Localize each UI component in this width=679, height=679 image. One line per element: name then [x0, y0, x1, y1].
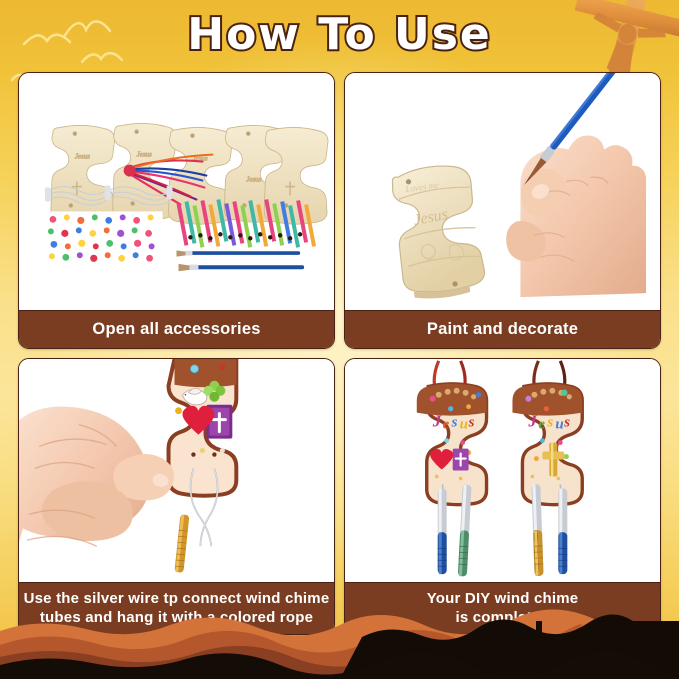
svg-text:e: e [538, 417, 545, 433]
svg-text:Jesus: Jesus [75, 153, 90, 161]
step-1-photo: Jesus Jesus Jesus [19, 73, 334, 310]
svg-text:Jesus: Jesus [137, 151, 152, 159]
step-card-3: Use the silver wire tp connect wind chim… [18, 358, 335, 635]
step-2-caption: Paint and decorate [345, 310, 660, 348]
step-card-1: Jesus Jesus Jesus [18, 72, 335, 349]
svg-text:s: s [563, 415, 570, 431]
step-2-caption-line-1: Paint and decorate [427, 320, 578, 338]
svg-text:J: J [432, 412, 442, 431]
poster-title-text: How To Use [187, 6, 492, 64]
step-1-caption: Open all accessories [19, 310, 334, 348]
step-4-photo: J e s u s [345, 359, 660, 582]
svg-text:J: J [527, 412, 537, 431]
svg-text:s: s [546, 415, 553, 431]
svg-text:u: u [555, 417, 563, 433]
step-card-2: Jesus Loves me [344, 72, 661, 349]
step-card-4: J e s u s [344, 358, 661, 635]
poster-root: How To Use [0, 0, 679, 679]
step-2-photo: Jesus Loves me [345, 73, 660, 310]
poster-title: How To Use [0, 6, 679, 64]
svg-text:s: s [468, 415, 475, 431]
step-1-caption-line-1: Open all accessories [92, 320, 260, 338]
desert-hills-silhouette-icon [0, 597, 679, 679]
step-3-photo [19, 359, 334, 582]
svg-text:s: s [451, 415, 458, 431]
svg-text:u: u [460, 417, 468, 433]
steps-grid: Jesus Jesus Jesus [18, 72, 661, 635]
svg-text:e: e [443, 417, 450, 433]
svg-text:Jesus: Jesus [246, 176, 261, 184]
